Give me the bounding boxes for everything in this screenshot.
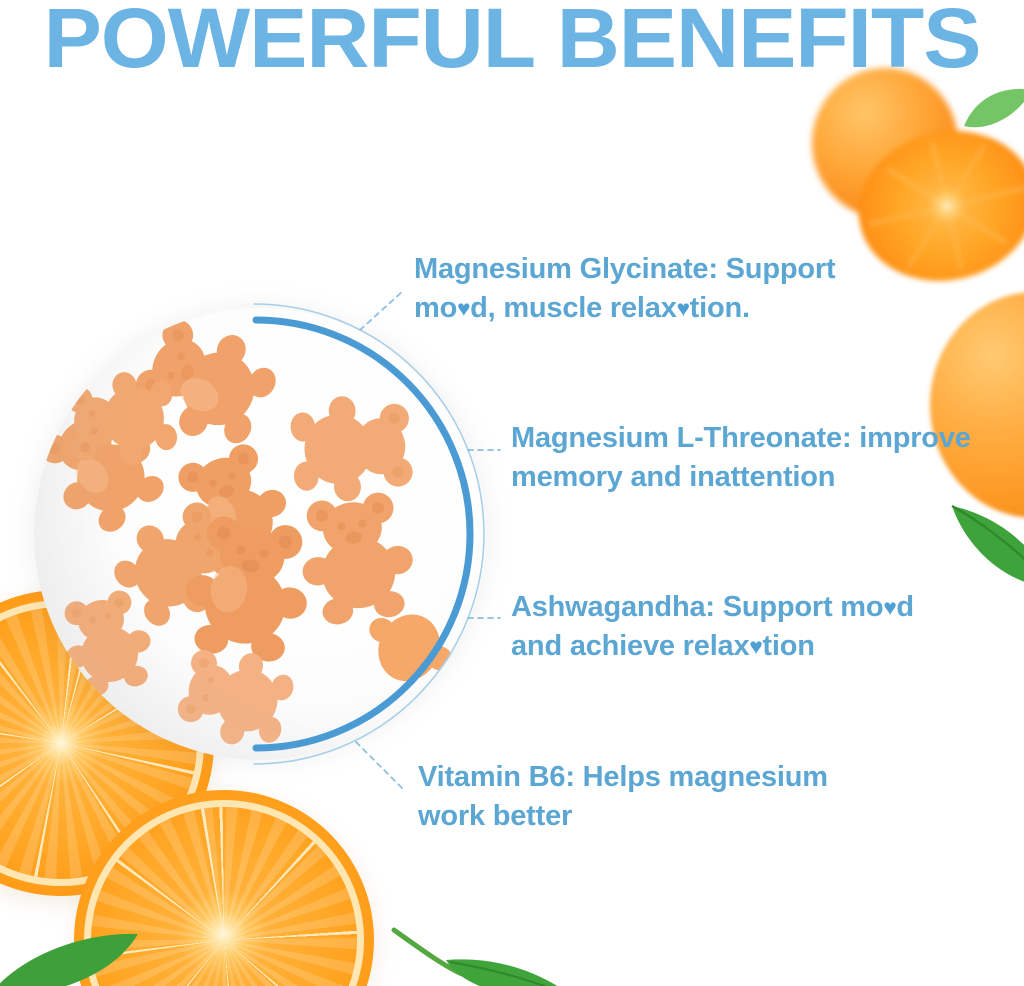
benefit-3-line2-b: tion	[762, 630, 814, 662]
benefit-text-ashwagandha: Ashwagandha: Support mo♥d and achieve re…	[511, 588, 981, 666]
benefit-3-line2-a: and achieve relax	[511, 630, 749, 662]
benefit-2-line2: memory and inattention	[511, 461, 835, 493]
benefit-3-line1-pre: Ashwagandha: Support mo	[511, 591, 883, 623]
leaf-icon-top-right	[962, 86, 1024, 132]
benefit-1-line2-b: d, muscle relax	[470, 292, 677, 324]
leaf-icon-bottom-center	[388, 926, 588, 986]
benefit-3-line1-post: d	[896, 591, 914, 623]
heart-icon: ♥	[883, 595, 896, 620]
benefits-infographic: POWERFUL BENEFITS	[0, 0, 1024, 986]
benefit-4-line1: Vitamin B6: Helps magnesium	[418, 761, 828, 793]
benefit-text-vitamin-b6: Vitamin B6: Helps magnesium work better	[418, 758, 878, 836]
gummy-bears-circle-photo	[34, 308, 486, 760]
leaf-icon-right	[948, 500, 1024, 592]
connector-1	[360, 290, 404, 330]
benefit-2-line1: Magnesium L-Threonate: improve	[511, 422, 971, 454]
heart-icon: ♥	[457, 296, 470, 321]
benefit-text-magnesium-glycinate: Magnesium Glycinate: Support mo♥d, muscl…	[414, 250, 884, 328]
benefit-4-line2: work better	[418, 800, 572, 832]
benefit-1-line2-a: mo	[414, 292, 457, 324]
leaf-icon-bottom-left	[0, 930, 138, 986]
heart-icon: ♥	[677, 296, 690, 321]
page-title: POWERFUL BENEFITS	[0, 0, 1024, 82]
gummy-bear	[55, 364, 181, 476]
connector-4	[356, 742, 404, 790]
benefit-text-magnesium-l-threonate: Magnesium L-Threonate: improve memory an…	[511, 419, 1016, 497]
benefit-1-line1: Magnesium Glycinate: Support	[414, 253, 835, 285]
heart-icon: ♥	[749, 634, 762, 659]
benefit-1-line2-c: tion.	[690, 292, 750, 324]
